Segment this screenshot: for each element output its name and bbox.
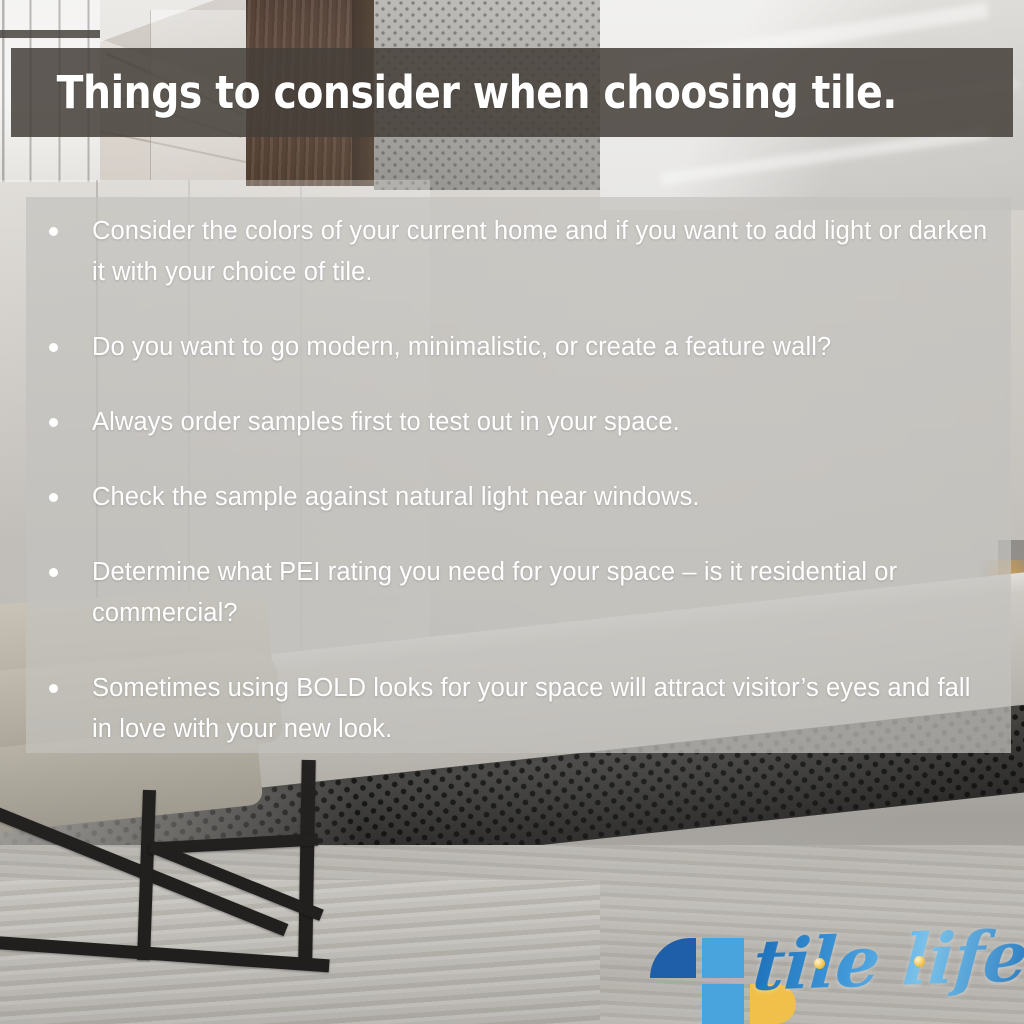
list-item: Check the sample against natural light n… — [48, 477, 989, 518]
content-panel: Consider the colors of your current home… — [26, 197, 1011, 753]
list-item: Determine what PEI rating you need for y… — [48, 552, 989, 634]
list-item-text: Consider the colors of your current home… — [92, 217, 987, 286]
list-item-text: Sometimes using BOLD looks for your spac… — [92, 674, 970, 743]
list-item-text: Always order samples first to test out i… — [92, 408, 680, 436]
bullet-dot-icon — [49, 343, 58, 352]
list-item-text: Determine what PEI rating you need for y… — [92, 558, 897, 627]
window-header-beam — [0, 30, 104, 38]
logo-tile-top-left — [650, 938, 696, 978]
logo-tile-top-right — [702, 938, 744, 978]
brand-logo[interactable]: tile life — [646, 930, 1024, 1022]
four-tile-square-logo-icon — [646, 936, 750, 1016]
list-item: Always order samples first to test out i… — [48, 402, 989, 443]
logo-wordmark: tile life — [750, 915, 1024, 1007]
bullet-dot-icon — [49, 568, 58, 577]
bullet-dot-icon — [49, 493, 58, 502]
title-banner: Things to consider when choosing tile. — [11, 48, 1013, 137]
tips-list: Consider the colors of your current home… — [26, 197, 1011, 750]
logo-tile-bottom-left — [702, 984, 744, 1024]
logo-i-dot-second — [914, 956, 925, 967]
list-item-text: Do you want to go modern, minimalistic, … — [92, 333, 831, 361]
page-title: Things to consider when choosing tile. — [11, 66, 897, 119]
list-item: Sometimes using BOLD looks for your spac… — [48, 668, 989, 750]
poster-canvas: Things to consider when choosing tile. C… — [0, 0, 1024, 1024]
bullet-dot-icon — [49, 684, 58, 693]
logo-i-dot-first — [814, 958, 825, 969]
list-item: Do you want to go modern, minimalistic, … — [48, 327, 989, 368]
list-item: Consider the colors of your current home… — [48, 211, 989, 293]
bullet-dot-icon — [49, 227, 58, 236]
list-item-text: Check the sample against natural light n… — [92, 483, 700, 511]
bullet-dot-icon — [49, 418, 58, 427]
